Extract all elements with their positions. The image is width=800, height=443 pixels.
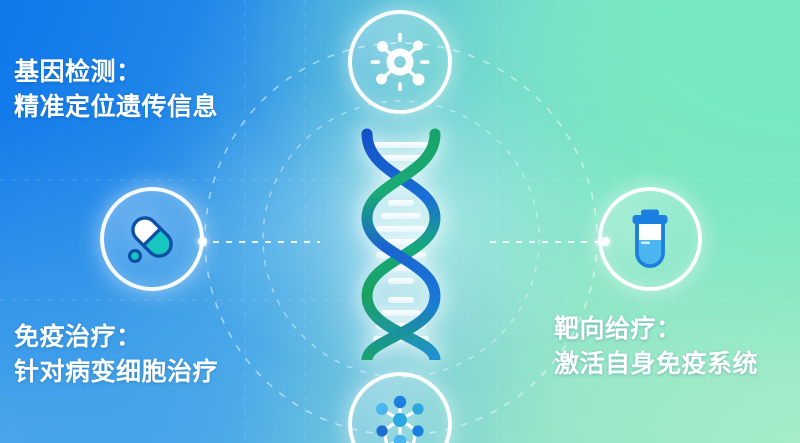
label-gene-line1: 基因检测： xyxy=(14,55,218,90)
label-targeted-therapy: 靶向给疗： 激活自身免疫系统 xyxy=(554,312,758,381)
molecular-network-icon xyxy=(366,390,434,443)
label-gene-line2: 精准定位遗传信息 xyxy=(14,90,218,125)
molecule-radial-icon xyxy=(367,29,433,95)
icon-node-left[interactable] xyxy=(100,187,204,291)
icon-node-top[interactable] xyxy=(348,10,452,114)
label-target-line2: 激活自身免疫系统 xyxy=(554,347,758,382)
label-immunotherapy: 免疫治疗： 针对病变细胞治疗 xyxy=(14,320,218,389)
icon-node-right[interactable] xyxy=(598,187,702,291)
infographic-canvas: 基因检测： 精准定位遗传信息 免疫治疗： 针对病变细胞治疗 靶向给疗： 激活自身… xyxy=(0,0,800,443)
dna-double-helix-icon xyxy=(345,128,457,360)
label-gene-testing: 基因检测： 精准定位遗传信息 xyxy=(14,55,218,124)
label-immune-line1: 免疫治疗： xyxy=(14,320,218,355)
test-tube-icon xyxy=(620,207,680,271)
label-immune-line2: 针对病变细胞治疗 xyxy=(14,355,218,390)
capsule-pill-icon xyxy=(120,207,184,271)
label-target-line1: 靶向给疗： xyxy=(554,312,758,347)
